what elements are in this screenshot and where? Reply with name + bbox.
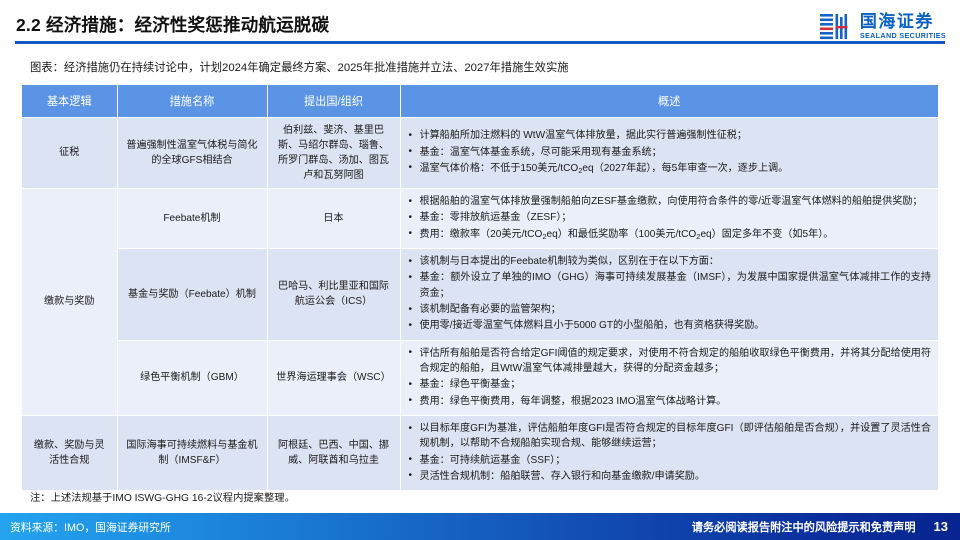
column-header-logic: 基本逻辑 (22, 85, 117, 117)
table-row: 绿色平衡机制（GBM）世界海运理事会（WSC）评估所有船舶是否符合给定GFI阈值… (22, 340, 938, 415)
overview-bullet-item: 基金：绿色平衡基金； (408, 377, 932, 392)
cell-proposer: 日本 (267, 189, 400, 249)
footer-source: 资料来源：IMO，国海证券研究所 (10, 519, 171, 535)
table-row: 征税普遍强制性温室气体税与简化的全球GFS相结合伯利兹、斐济、基里巴斯、马绍尔群… (22, 117, 938, 189)
page-title: 2.2 经济措施：经济性奖惩推动航运脱碳 (16, 12, 329, 37)
overview-bullet-item: 灵活性合规机制：船舶联营、存入银行和向基金缴款/申请奖励。 (408, 469, 932, 484)
table-body: 征税普遍强制性温室气体税与简化的全球GFS相结合伯利兹、斐济、基里巴斯、马绍尔群… (22, 117, 938, 491)
economic-measures-table: 基本逻辑 措施名称 提出国/组织 概述 征税普遍强制性温室气体税与简化的全球GF… (22, 85, 938, 491)
cell-measure-name: 普遍强制性温室气体税与简化的全球GFS相结合 (117, 117, 267, 189)
overview-bullet-list: 评估所有船舶是否符合给定GFI阈值的规定要求，对使用不符合规定的船舶收取绿色平衡… (408, 346, 932, 409)
logo-company-name-cn: 国海证券 (860, 13, 946, 31)
overview-bullet-list: 根据船舶的温室气体排放量强制船舶向ZESF基金缴款，向使用符合条件的零/近零温室… (408, 194, 932, 242)
table-note: 注：上述法规基于IMO ISWG-GHG 16-2议程内提案整理。 (30, 489, 295, 504)
overview-bullet-item: 根据船舶的温室气体排放量强制船舶向ZESF基金缴款，向使用符合条件的零/近零温室… (408, 194, 932, 209)
slide-canvas: 2.2 经济措施：经济性奖惩推动航运脱碳 国海证券 SEALAND SECURI… (0, 0, 960, 540)
overview-bullet-item: 温室气体价格：不低于150美元/tCO2eq（2027年起），每5年审查一次，逐… (408, 161, 932, 176)
cell-logic: 征税 (22, 117, 117, 189)
overview-bullet-item: 以目标年度GFI为基准，评估船舶年度GFI是否符合规定的目标年度GFI（即评估船… (408, 421, 932, 452)
overview-bullet-item: 费用：绿色平衡费用，每年调整，根据2023 IMO温室气体战略计算。 (408, 394, 932, 409)
logo-company-name-en: SEALAND SECURITIES (860, 32, 946, 41)
sealand-logo-icon (819, 12, 853, 42)
column-header-overview: 概述 (400, 85, 938, 117)
cell-logic: 缴款与奖励 (22, 189, 117, 416)
column-header-proposer: 提出国/组织 (267, 85, 400, 117)
overview-bullet-item: 使用零/接近零温室气体燃料且小于5000 GT的小型船舶，也有资格获得奖励。 (408, 318, 932, 333)
cell-logic: 缴款、奖励与灵活性合规 (22, 416, 117, 491)
cell-proposer: 巴哈马、利比里亚和国际航运公会（ICS） (267, 249, 400, 341)
cell-measure-name: 绿色平衡机制（GBM） (117, 340, 267, 415)
cell-overview: 计算船舶所加注燃料的 WtW温室气体排放量，据此实行普遍强制性征税；基金：温室气… (400, 117, 938, 189)
cell-overview: 根据船舶的温室气体排放量强制船舶向ZESF基金缴款，向使用符合条件的零/近零温室… (400, 189, 938, 249)
overview-bullet-item: 基金：温室气体基金系统，尽可能采用现有基金系统； (408, 145, 932, 160)
company-logo: 国海证券 SEALAND SECURITIES (819, 12, 946, 42)
overview-bullet-item: 该机制配备有必要的监管架构； (408, 302, 932, 317)
cell-proposer: 伯利兹、斐济、基里巴斯、马绍尔群岛、瑙鲁、所罗门群岛、汤加、图瓦卢和瓦努阿图 (267, 117, 400, 189)
footer-page-number: 13 (934, 519, 948, 534)
overview-bullet-item: 费用：缴款率（20美元/tCO2eq）和最低奖励率（100美元/tCO2eq）固… (408, 227, 932, 242)
overview-bullet-item: 该机制与日本提出的Feebate机制较为类似，区别在于在以下方面： (408, 254, 932, 269)
table-header-row: 基本逻辑 措施名称 提出国/组织 概述 (22, 85, 938, 117)
cell-overview: 以目标年度GFI为基准，评估船舶年度GFI是否符合规定的目标年度GFI（即评估船… (400, 416, 938, 491)
column-header-measure: 措施名称 (117, 85, 267, 117)
overview-bullet-list: 该机制与日本提出的Feebate机制较为类似，区别在于在以下方面：基金：额外设立… (408, 254, 932, 334)
cell-overview: 该机制与日本提出的Feebate机制较为类似，区别在于在以下方面：基金：额外设立… (400, 249, 938, 341)
cell-proposer: 世界海运理事会（WSC） (267, 340, 400, 415)
footer-disclaimer: 请务必阅读报告附注中的风险提示和免责声明 (692, 519, 916, 535)
cell-measure-name: 国际海事可持续燃料与基金机制（IMSF&F） (117, 416, 267, 491)
title-divider (15, 41, 945, 44)
overview-bullet-item: 基金：额外设立了单独的IMO（GHG）海事可持续发展基金（IMSF），为发展中国… (408, 270, 932, 301)
overview-bullet-list: 以目标年度GFI为基准，评估船舶年度GFI是否符合规定的目标年度GFI（即评估船… (408, 421, 932, 484)
overview-bullet-item: 基金：零排放航运基金（ZESF）； (408, 210, 932, 225)
cell-measure-name: 基金与奖励（Feebate）机制 (117, 249, 267, 341)
slide-footer: 资料来源：IMO，国海证券研究所 请务必阅读报告附注中的风险提示和免责声明 13 (0, 513, 960, 540)
overview-bullet-item: 计算船舶所加注燃料的 WtW温室气体排放量，据此实行普遍强制性征税； (408, 128, 932, 143)
cell-overview: 评估所有船舶是否符合给定GFI阈值的规定要求，对使用不符合规定的船舶收取绿色平衡… (400, 340, 938, 415)
economic-measures-table-wrapper: 基本逻辑 措施名称 提出国/组织 概述 征税普遍强制性温室气体税与简化的全球GF… (22, 85, 938, 491)
table-row: 缴款、奖励与灵活性合规国际海事可持续燃料与基金机制（IMSF&F）阿根廷、巴西、… (22, 416, 938, 491)
overview-bullet-list: 计算船舶所加注燃料的 WtW温室气体排放量，据此实行普遍强制性征税；基金：温室气… (408, 128, 932, 176)
overview-bullet-item: 评估所有船舶是否符合给定GFI阈值的规定要求，对使用不符合规定的船舶收取绿色平衡… (408, 346, 932, 377)
footer-right-group: 请务必阅读报告附注中的风险提示和免责声明 13 (692, 519, 948, 535)
chart-caption: 图表：经济措施仍在持续讨论中，计划2024年确定最终方案、2025年批准措施并立… (30, 59, 569, 75)
table-row: 基金与奖励（Feebate）机制巴哈马、利比里亚和国际航运公会（ICS）该机制与… (22, 249, 938, 341)
table-head: 基本逻辑 措施名称 提出国/组织 概述 (22, 85, 938, 117)
overview-bullet-item: 基金：可持续航运基金（SSF）； (408, 453, 932, 468)
cell-measure-name: Feebate机制 (117, 189, 267, 249)
cell-proposer: 阿根廷、巴西、中国、挪威、阿联酋和乌拉圭 (267, 416, 400, 491)
table-row: 缴款与奖励Feebate机制日本根据船舶的温室气体排放量强制船舶向ZESF基金缴… (22, 189, 938, 249)
